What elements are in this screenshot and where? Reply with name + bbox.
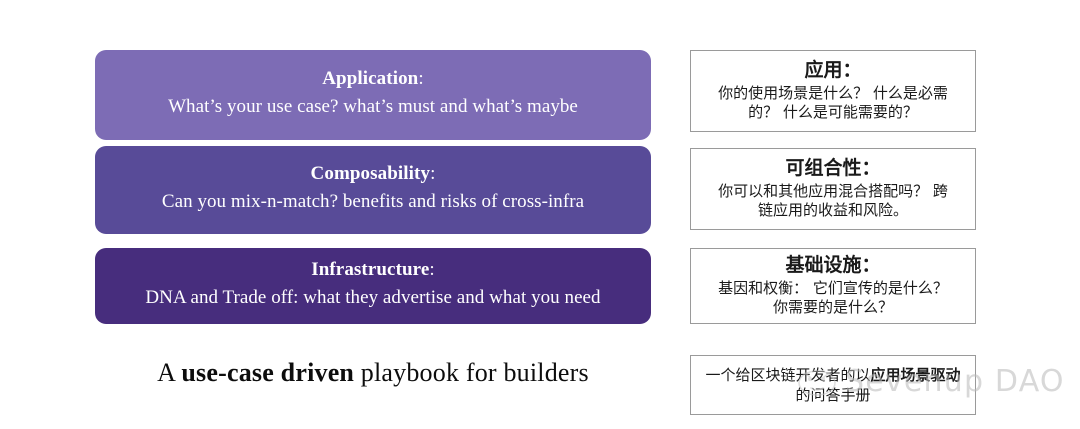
- translation-composability-line1: 你可以和其他应用混合搭配吗？ 跨: [718, 182, 948, 202]
- translation-box-composability: 可组合性： 你可以和其他应用混合搭配吗？ 跨 链应用的收益和风险。: [690, 148, 976, 230]
- panel-application: Application: What’s your use case? what’…: [95, 50, 651, 140]
- translation-box-infrastructure: 基础设施： 基因和权衡： 它们宣传的是什么？ 你需要的是什么？: [690, 248, 976, 324]
- panel-application-subtitle: What’s your use case? what’s must and wh…: [168, 95, 578, 120]
- tagline-trail: playbook for builders: [354, 358, 589, 387]
- translation-infrastructure-title: 基础设施：: [785, 254, 880, 277]
- translation-tagline-lead: 一个给区块链开发者的以: [705, 366, 870, 384]
- panel-application-title-colon: :: [418, 68, 423, 89]
- panel-infrastructure-title-colon: :: [429, 259, 434, 280]
- translation-box-application: 应用： 你的使用场景是什么？ 什么是必需 的？ 什么是可能需要的？: [690, 50, 976, 132]
- translation-composability-title: 可组合性：: [785, 157, 880, 180]
- panel-infrastructure: Infrastructure: DNA and Trade off: what …: [95, 248, 651, 324]
- panel-composability: Composability: Can you mix-n-match? bene…: [95, 146, 651, 234]
- panel-application-title-text: Application: [322, 68, 418, 89]
- translation-composability-line2: 链应用的收益和风险。: [758, 201, 908, 221]
- translation-tagline-emphasis: 应用场景驱动: [871, 366, 961, 384]
- tagline: A use-case driven playbook for builders: [95, 358, 651, 388]
- tagline-emphasis: use-case driven: [181, 358, 354, 387]
- translation-infrastructure-line2: 你需要的是什么？: [773, 298, 893, 318]
- panel-infrastructure-title-text: Infrastructure: [311, 259, 429, 280]
- panel-composability-title: Composability:: [311, 162, 436, 186]
- panel-infrastructure-subtitle: DNA and Trade off: what they advertise a…: [145, 286, 600, 311]
- translation-application-title: 应用：: [804, 59, 861, 82]
- tagline-lead: A: [157, 358, 181, 387]
- translation-tagline-trail: 的问答手册: [795, 386, 870, 404]
- translation-box-tagline: 一个给区块链开发者的以应用场景驱动的问答手册: [690, 355, 976, 415]
- translation-application-line1: 你的使用场景是什么？ 什么是必需: [718, 84, 948, 104]
- panel-composability-title-colon: :: [430, 163, 435, 184]
- translation-application-line2: 的？ 什么是可能需要的？: [748, 103, 918, 123]
- translation-tagline-text: 一个给区块链开发者的以应用场景驱动的问答手册: [699, 365, 967, 406]
- panel-infrastructure-title: Infrastructure:: [311, 258, 435, 282]
- slide-canvas: Application: What’s your use case? what’…: [0, 0, 1080, 429]
- panel-composability-subtitle: Can you mix-n-match? benefits and risks …: [162, 190, 584, 215]
- panel-composability-title-text: Composability: [311, 163, 431, 184]
- translation-infrastructure-line1: 基因和权衡： 它们宣传的是什么？: [718, 279, 948, 299]
- panel-application-title: Application:: [322, 67, 424, 91]
